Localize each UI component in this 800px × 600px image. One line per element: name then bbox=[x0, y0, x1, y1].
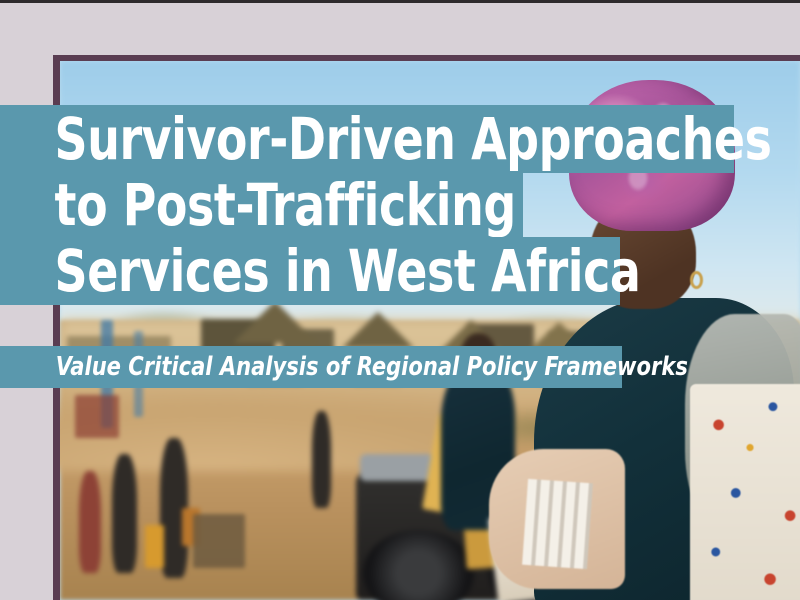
title-line-1: Survivor-Driven Approaches bbox=[0, 110, 772, 168]
villager-figure-1 bbox=[112, 454, 137, 573]
jerrycan-carried bbox=[145, 525, 164, 568]
villager-figure-3 bbox=[79, 471, 101, 573]
woman-patterned-skirt bbox=[690, 384, 800, 600]
ground-crate bbox=[193, 514, 245, 568]
subtitle-text: Value Critical Analysis of Regional Poli… bbox=[0, 354, 688, 380]
title-line-3: Services in West Africa bbox=[0, 242, 640, 300]
title-band-line-2: to Post-Trafficking bbox=[0, 171, 523, 239]
subtitle-band: Value Critical Analysis of Regional Poli… bbox=[0, 346, 622, 388]
title-band-line-3: Services in West Africa bbox=[0, 237, 620, 305]
woman-armband bbox=[522, 479, 593, 570]
report-cover: Survivor-Driven Approaches to Post-Traff… bbox=[0, 0, 800, 600]
villager-figure-4 bbox=[312, 411, 331, 508]
title-band-line-1: Survivor-Driven Approaches bbox=[0, 105, 734, 173]
title-line-2: to Post-Trafficking bbox=[0, 176, 516, 234]
motorcycle-handlebar bbox=[360, 454, 434, 481]
hoop-earring-right bbox=[690, 271, 703, 289]
red-object bbox=[75, 395, 119, 438]
top-edge-rule bbox=[0, 0, 800, 3]
